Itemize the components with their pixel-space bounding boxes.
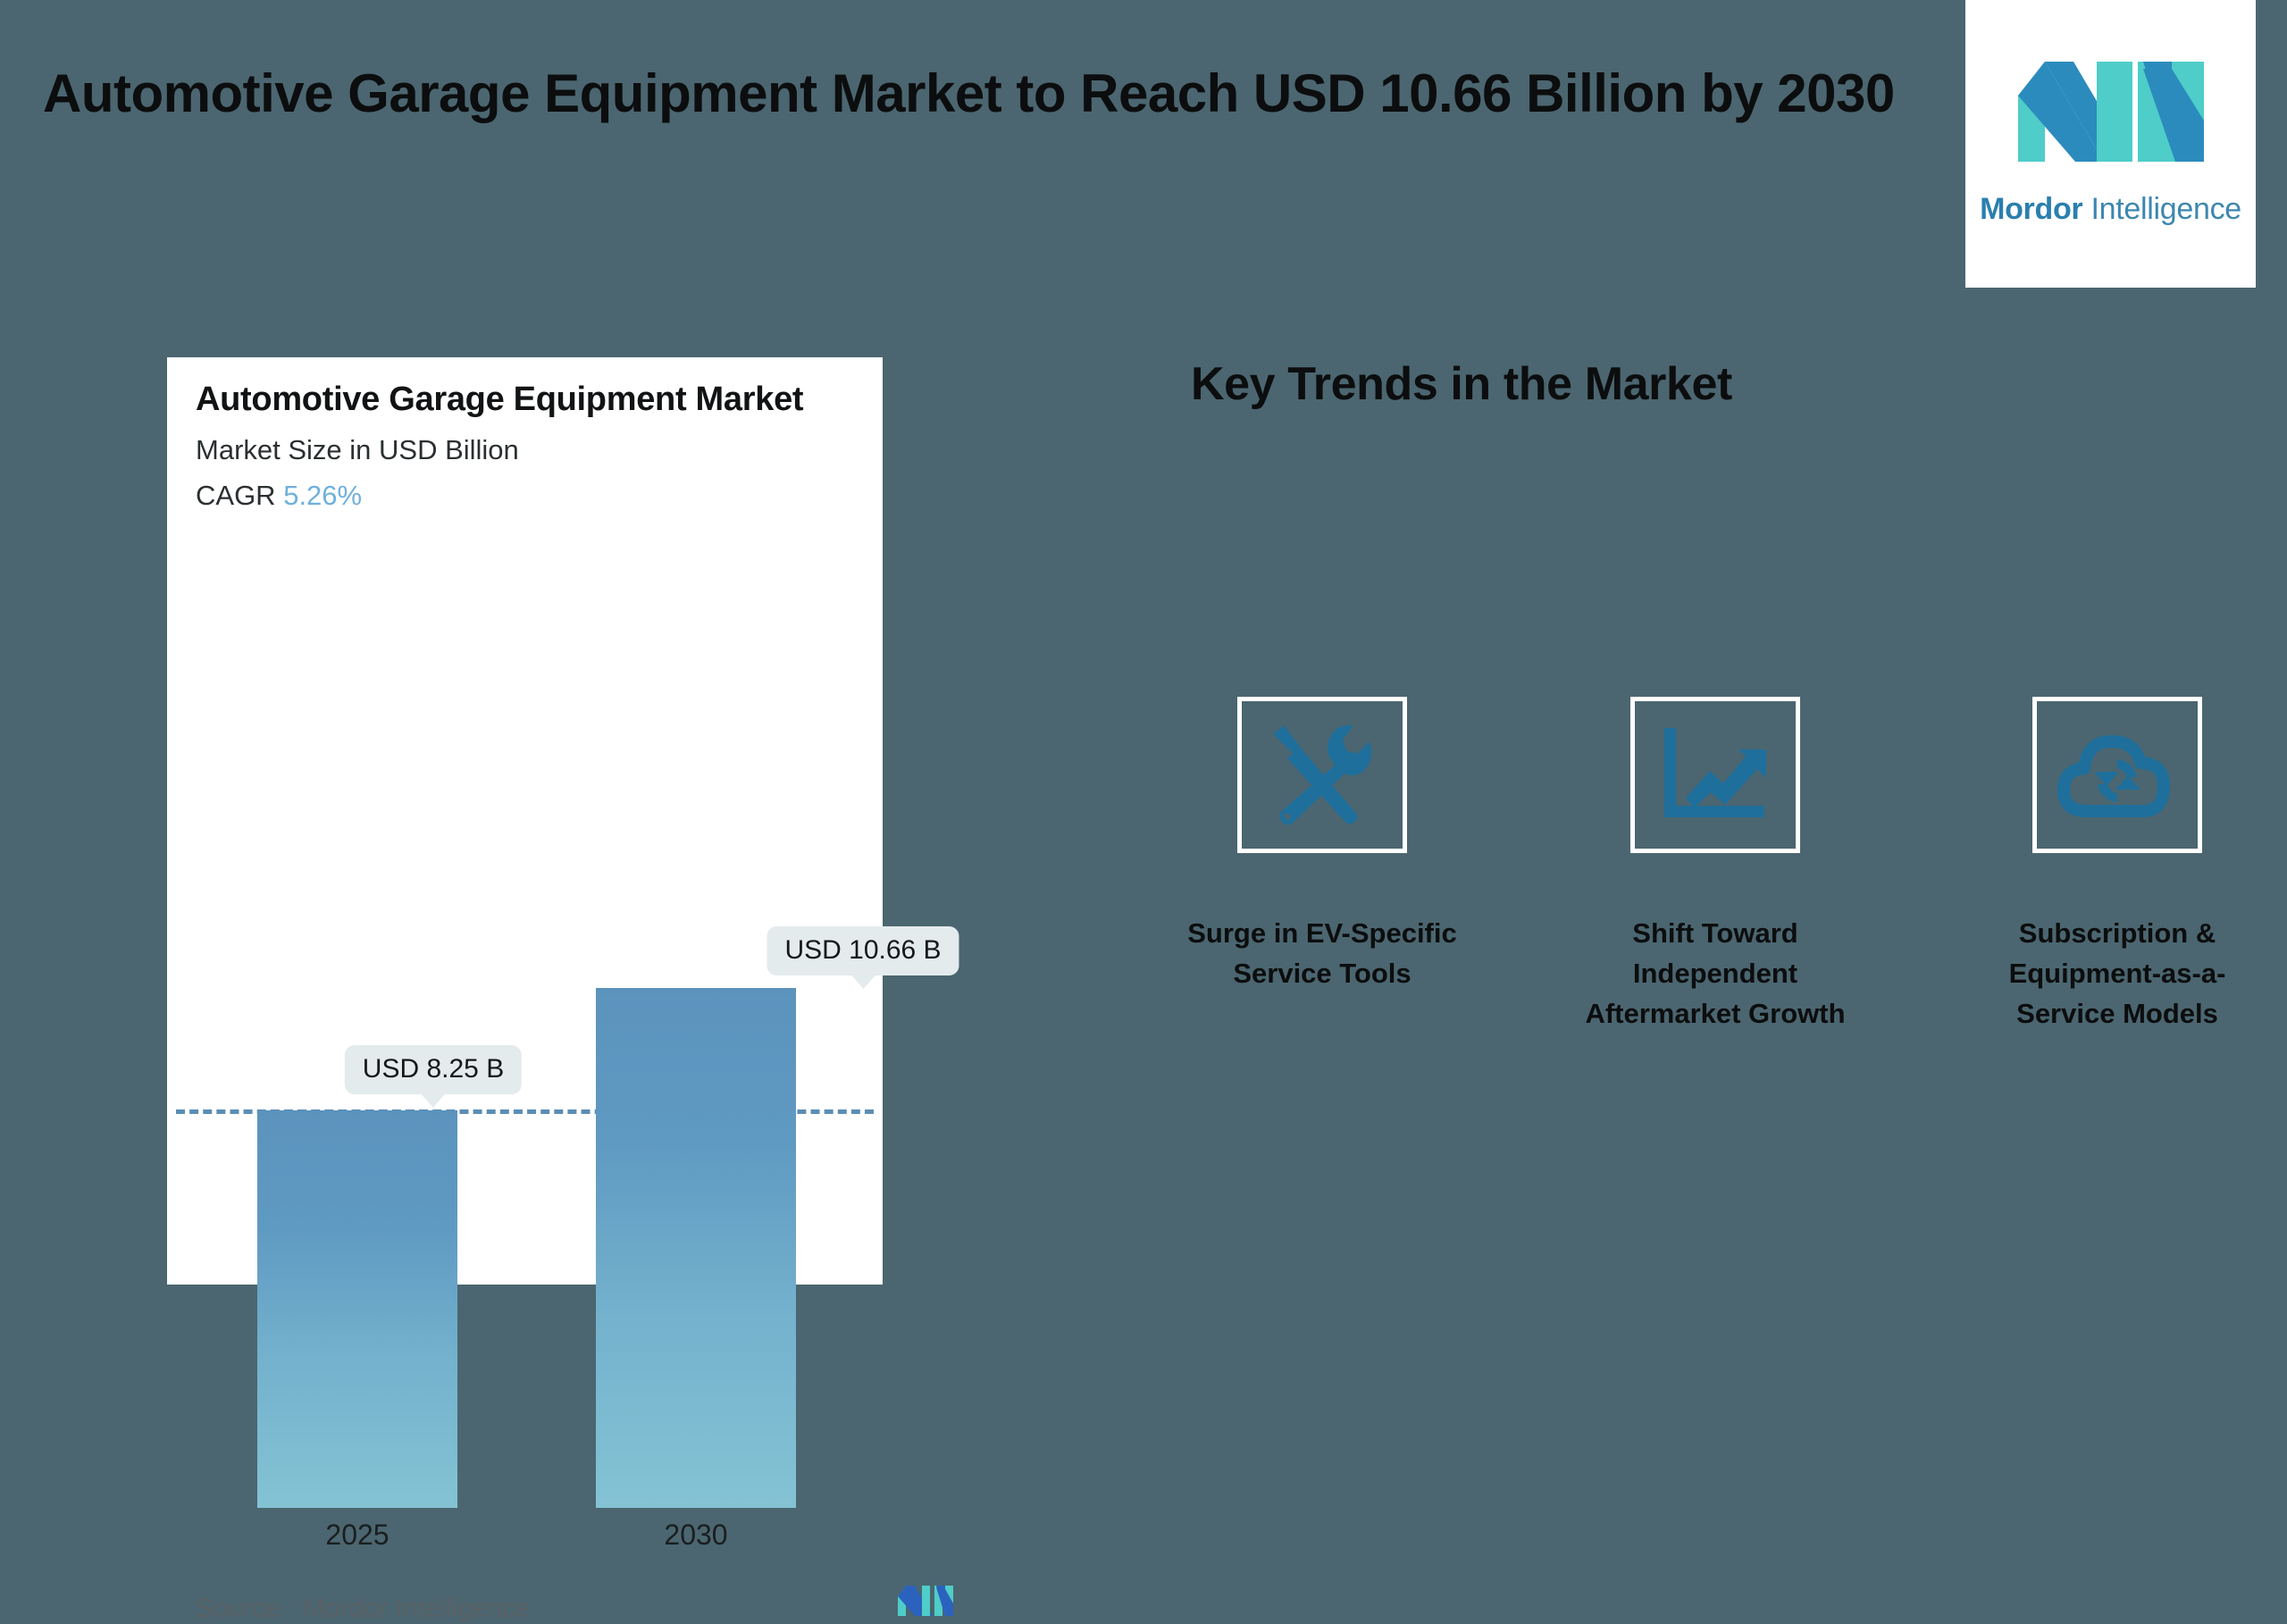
x-axis-label-2030: 2030	[596, 1519, 796, 1552]
value-badge-2030: USD 10.66 B	[767, 926, 959, 975]
page-title: Automotive Garage Equipment Market to Re…	[43, 63, 1901, 126]
trend-icon-frame	[2032, 697, 2202, 853]
brand-name-bold: Mordor	[1980, 192, 2082, 226]
trend-caption: Surge in EV-Specific Service Tools	[1170, 914, 1474, 994]
x-axis-label-2025: 2025	[257, 1519, 457, 1552]
trend-icon-frame	[1630, 697, 1800, 853]
tools-wrench-screwdriver-icon	[1264, 722, 1380, 829]
chart-plot-area: USD 8.25 B USD 10.66 B 2025 2030	[167, 357, 883, 1285]
mordor-intelligence-logo-icon	[2018, 62, 2204, 178]
trend-item-independent-aftermarket: Shift Toward Independent Aftermarket Gro…	[1563, 697, 1867, 1034]
chart-source-label: Source : Mordor Intelligence	[196, 1594, 531, 1624]
trend-caption: Shift Toward Independent Aftermarket Gro…	[1563, 914, 1867, 1034]
growth-chart-arrow-icon	[1659, 723, 1772, 828]
trend-item-subscription-eaas: Subscription & Equipment-as-a- Service M…	[1965, 697, 2269, 1034]
market-size-chart-card: Automotive Garage Equipment Market Marke…	[167, 357, 883, 1285]
trend-item-ev-service-tools: Surge in EV-Specific Service Tools	[1170, 697, 1474, 994]
cloud-sync-icon	[2055, 725, 2180, 825]
trend-icon-frame	[1237, 697, 1407, 853]
brand-logo-card: Mordor Intelligence	[1965, 0, 2256, 288]
bar-2025	[257, 1110, 457, 1508]
value-badge-2025: USD 8.25 B	[345, 1045, 522, 1094]
bar-2030	[596, 988, 796, 1508]
trend-caption: Subscription & Equipment-as-a- Service M…	[1965, 914, 2269, 1034]
key-trends-heading: Key Trends in the Market	[1191, 357, 1732, 411]
brand-name-light: Intelligence	[2082, 192, 2241, 226]
mordor-intelligence-mark-icon	[898, 1586, 953, 1621]
brand-name: Mordor Intelligence	[1980, 192, 2241, 227]
